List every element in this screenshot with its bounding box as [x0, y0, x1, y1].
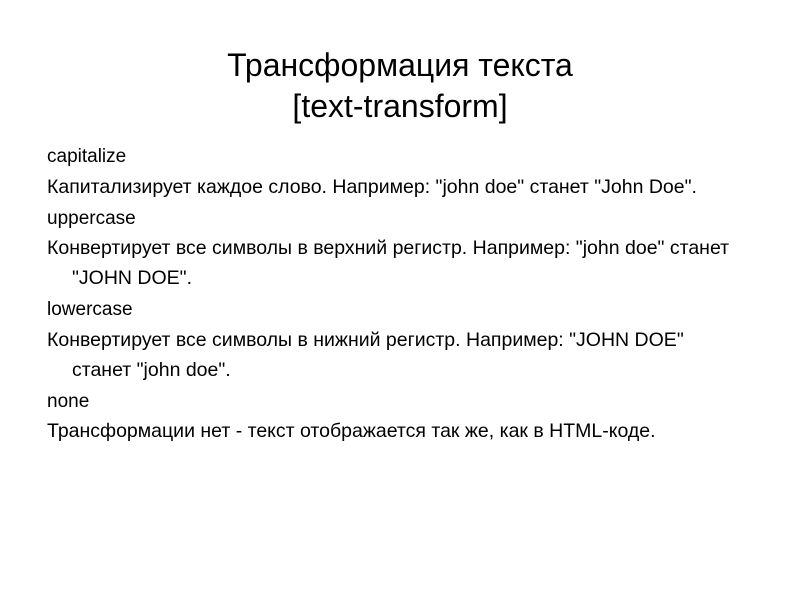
definition-block-lowercase: lowercase Конвертирует все символы в ниж… — [47, 295, 747, 385]
slide-title-line-2: [text-transform] — [40, 86, 760, 127]
term-label-uppercase: uppercase — [47, 204, 747, 234]
term-label-lowercase: lowercase — [47, 295, 747, 325]
slide-title: Трансформация текста [text-transform] — [40, 45, 760, 127]
definition-block-uppercase: uppercase Конвертирует все символы в вер… — [47, 204, 747, 294]
term-description-lowercase: Конвертирует все символы в нижний регист… — [47, 325, 747, 385]
slide-title-line-1: Трансформация текста — [40, 45, 760, 86]
term-label-none: none — [47, 387, 747, 417]
term-description-none: Трансформации нет - текст отображается т… — [47, 416, 747, 446]
definition-block-none: none Трансформации нет - текст отображае… — [47, 387, 747, 447]
term-label-capitalize: capitalize — [47, 142, 747, 172]
presentation-slide: Трансформация текста [text-transform] ca… — [0, 0, 800, 600]
term-description-capitalize: Капитализирует каждое слово. Например: "… — [47, 172, 747, 202]
term-description-uppercase: Конвертирует все символы в верхний регис… — [47, 233, 747, 293]
slide-body: capitalize Капитализирует каждое слово. … — [47, 142, 747, 448]
definition-block-capitalize: capitalize Капитализирует каждое слово. … — [47, 142, 747, 202]
